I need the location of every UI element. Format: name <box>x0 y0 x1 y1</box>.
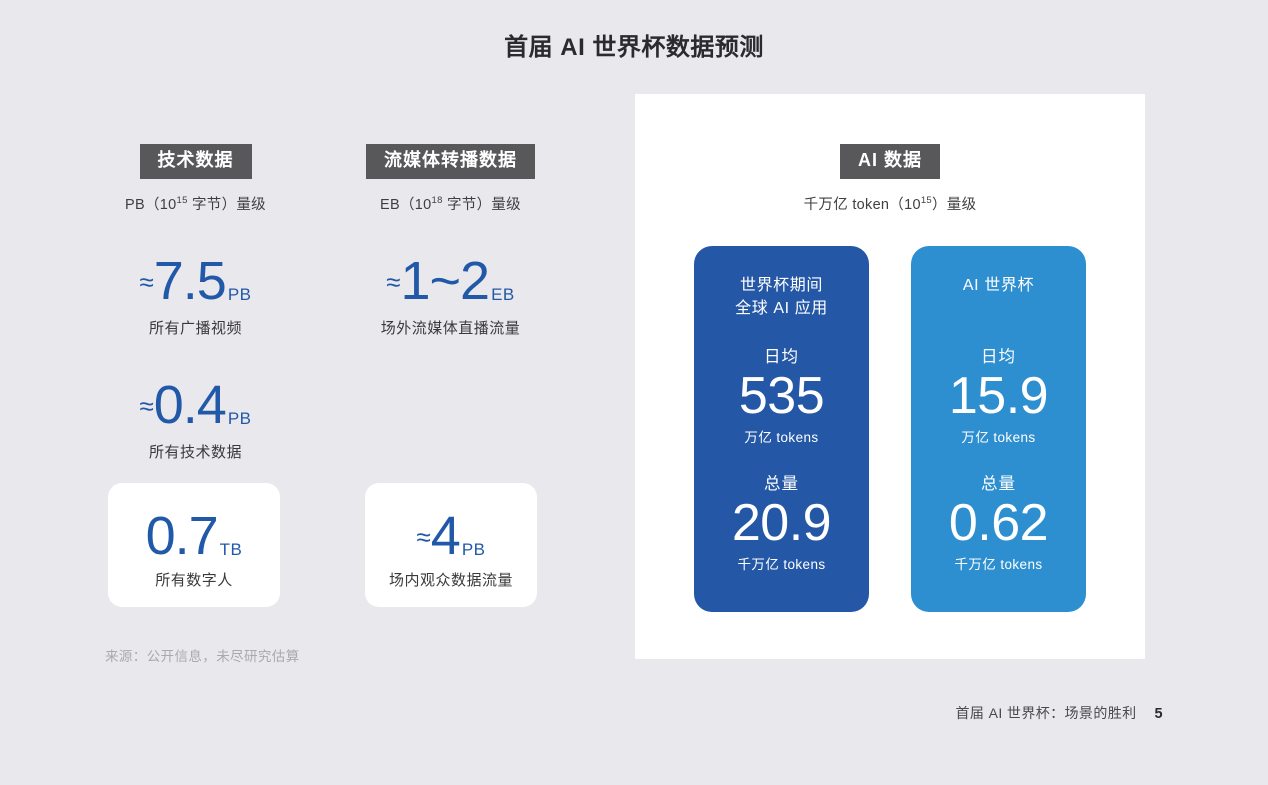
ai-metric-number: 535 <box>694 367 869 425</box>
ai-metric-unit: 千万亿 tokens <box>694 553 869 573</box>
stat-unit: TB <box>220 540 243 559</box>
scale-prefix: 千万亿 token（10 <box>804 197 921 213</box>
badge-technical-data: 技术数据 <box>140 144 252 179</box>
ai-card-title-line1: AI 世界杯 <box>911 274 1086 297</box>
stat-label: 场外流媒体直播流量 <box>333 317 568 338</box>
ai-metric-unit: 万亿 tokens <box>911 426 1086 446</box>
stat-value: ≈1~2EB <box>333 254 568 308</box>
scale-prefix: PB（10 <box>125 197 176 213</box>
scale-exponent: 15 <box>921 195 932 206</box>
ai-metric-unit: 万亿 tokens <box>694 426 869 446</box>
scale-note-ai: 千万亿 token（1015）量级 <box>635 193 1145 214</box>
ai-metric-number: 0.62 <box>911 494 1086 552</box>
page-title: 首届 AI 世界杯数据预测 <box>0 27 1268 62</box>
column-streaming-data: 流媒体转播数据 EB（1018 字节）量级 ≈1~2EB 场外流媒体直播流量 <box>333 144 568 338</box>
scale-note-technical: PB（1015 字节）量级 <box>78 193 313 214</box>
ai-metric-label: 日均 <box>694 343 869 367</box>
stat-number: 0.7 <box>146 506 218 566</box>
ai-card-group: 世界杯期间 全球 AI 应用 日均 535 万亿 tokens 总量 20.9 … <box>635 246 1145 612</box>
ai-metric-daily-average: 日均 15.9 万亿 tokens <box>911 343 1086 446</box>
stat-label: 所有广播视频 <box>78 317 313 338</box>
stat-offsite-streaming: ≈1~2EB 场外流媒体直播流量 <box>333 254 568 338</box>
ai-card-title: 世界杯期间 全球 AI 应用 <box>694 274 869 321</box>
scale-note-streaming: EB（1018 字节）量级 <box>333 193 568 214</box>
scale-suffix: 字节）量级 <box>188 197 266 213</box>
stat-unit: PB <box>228 285 252 304</box>
stat-unit: EB <box>491 285 515 304</box>
ai-metric-label: 日均 <box>911 343 1086 367</box>
ai-metric-number: 15.9 <box>911 367 1086 425</box>
approx-sign: ≈ <box>139 267 153 297</box>
scale-suffix: 字节）量级 <box>443 197 521 213</box>
ai-metric-unit: 千万亿 tokens <box>911 553 1086 573</box>
ai-card-title-line1: 世界杯期间 <box>694 274 869 297</box>
approx-sign: ≈ <box>139 391 153 421</box>
stat-value: 0.7TB <box>108 509 280 563</box>
ai-card-title-line2: 全球 AI 应用 <box>694 297 869 320</box>
ai-card-title: AI 世界杯 <box>911 274 1086 321</box>
ai-header-row: AI 数据 <box>635 144 1145 179</box>
column-header-row: 技术数据 <box>78 144 313 179</box>
ai-metric-daily-average: 日均 535 万亿 tokens <box>694 343 869 446</box>
ai-metric-number: 20.9 <box>694 494 869 552</box>
ai-card-ai-world-cup: AI 世界杯 日均 15.9 万亿 tokens 总量 0.62 千万亿 tok… <box>911 246 1086 612</box>
tile-venue-audience-traffic: ≈4PB 场内观众数据流量 <box>365 483 537 607</box>
slide-footer: 首届 AI 世界杯：场景的胜利 5 <box>956 703 1163 723</box>
stat-number: 1~2 <box>400 251 489 311</box>
stat-broadcast-video: ≈7.5PB 所有广播视频 <box>78 254 313 338</box>
scale-prefix: EB（10 <box>380 197 431 213</box>
ai-metric-label: 总量 <box>694 470 869 494</box>
stat-label: 所有技术数据 <box>78 441 313 462</box>
stat-number: 0.4 <box>154 375 226 435</box>
approx-sign: ≈ <box>416 522 430 552</box>
stat-value: ≈7.5PB <box>78 254 313 308</box>
stat-value: ≈0.4PB <box>78 378 313 432</box>
stat-number: 4 <box>431 506 460 566</box>
scale-suffix: ）量级 <box>932 197 976 213</box>
stat-label: 场内观众数据流量 <box>365 569 537 590</box>
ai-metric-total: 总量 20.9 千万亿 tokens <box>694 470 869 573</box>
scale-exponent: 15 <box>176 195 187 206</box>
stat-all-technical-data: ≈0.4PB 所有技术数据 <box>78 378 313 462</box>
column-technical-data: 技术数据 PB（1015 字节）量级 ≈7.5PB 所有广播视频 ≈0.4PB … <box>78 144 313 462</box>
stat-value: ≈4PB <box>365 509 537 563</box>
ai-data-panel: AI 数据 千万亿 token（1015）量级 世界杯期间 全球 AI 应用 日… <box>635 94 1145 659</box>
ai-panel-header: AI 数据 千万亿 token（1015）量级 <box>635 94 1145 214</box>
approx-sign: ≈ <box>386 267 400 297</box>
ai-metric-label: 总量 <box>911 470 1086 494</box>
page-number: 5 <box>1155 706 1163 722</box>
source-note: 来源：公开信息，未尽研究估算 <box>105 645 300 665</box>
tile-digital-humans: 0.7TB 所有数字人 <box>108 483 280 607</box>
ai-metric-total: 总量 0.62 千万亿 tokens <box>911 470 1086 573</box>
badge-ai-data: AI 数据 <box>840 144 940 179</box>
footer-title: 首届 AI 世界杯：场景的胜利 <box>956 703 1137 723</box>
stat-label: 所有数字人 <box>108 569 280 590</box>
scale-exponent: 18 <box>431 195 442 206</box>
badge-streaming-data: 流媒体转播数据 <box>366 144 535 179</box>
ai-card-global-ai-usage: 世界杯期间 全球 AI 应用 日均 535 万亿 tokens 总量 20.9 … <box>694 246 869 612</box>
stat-unit: PB <box>228 409 252 428</box>
stat-unit: PB <box>462 540 486 559</box>
stat-number: 7.5 <box>154 251 226 311</box>
column-header-row: 流媒体转播数据 <box>333 144 568 179</box>
